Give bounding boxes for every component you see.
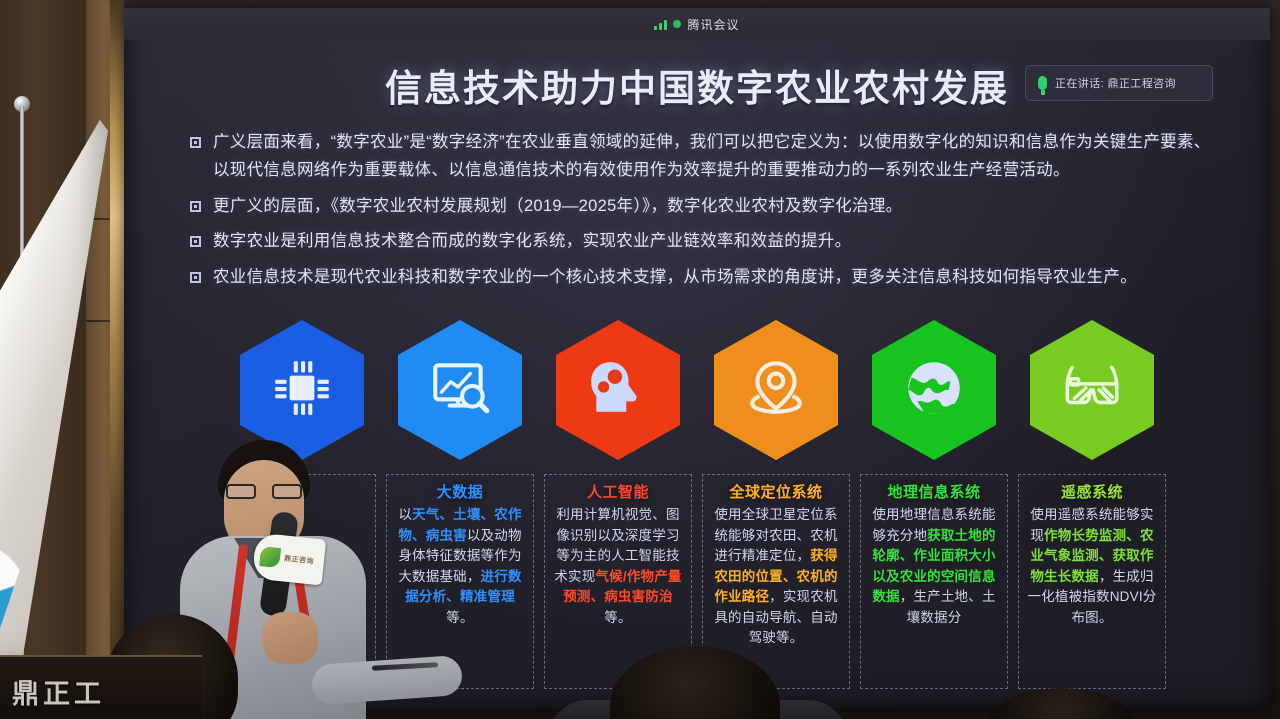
globe-icon: [901, 355, 967, 426]
chip-icon: [269, 355, 335, 426]
card-title: 地理信息系统: [867, 481, 1001, 502]
ai-head-gears-icon: [585, 355, 651, 426]
green-dot-icon: [673, 20, 681, 28]
smart-glasses-icon: [1059, 355, 1125, 426]
bullet-square-icon: [190, 272, 201, 283]
card-title: 遥感系统: [1025, 481, 1159, 502]
location-pin-icon: [743, 355, 809, 426]
card-body: 以天气、土壤、农作物、病虫害以及动物身体特征数据等作为大数据基础，进行数据分析、…: [393, 505, 527, 628]
bullet-text: 广义层面来看，“数字农业”是“数字经济”在农业垂直领域的延伸，我们可以把它定义为…: [213, 128, 1226, 185]
slide-bullet: 农业信息技术是现代农业科技和数字农业的一个核心技术支撑，从市场需求的角度讲，更多…: [190, 263, 1226, 291]
meeting-app-label: 腾讯会议: [687, 16, 739, 33]
hexagon-ai-head-gears-icon: [556, 320, 680, 460]
card-body: 使用全球卫星定位系统能够对农田、农机进行精准定位，获得农田的位置、农机的作业路径…: [709, 505, 843, 649]
card-body: 使用地理信息系统能够充分地获取土地的轮廓、作业面积大小以及农业的空间信息数据，生…: [867, 505, 1001, 628]
hexagon-chip-icon: [240, 320, 364, 460]
technology-card: 大数据以天气、土壤、农作物、病虫害以及动物身体特征数据等作为大数据基础，进行数据…: [386, 474, 534, 689]
bullet-square-icon: [190, 201, 201, 212]
slide-title: 信息技术助力中国数字农业农村发展: [124, 58, 1270, 112]
bullet-text: 更广义的层面，《数字农业农村发展规划（2019—2025年）》，数字化农业农村及…: [213, 192, 902, 220]
hexagon-globe-icon: [872, 320, 996, 460]
meeting-topbar: 腾讯会议: [124, 8, 1270, 40]
bullet-text: 农业信息技术是现代农业科技和数字农业的一个核心技术支撑，从市场需求的角度讲，更多…: [213, 263, 1137, 291]
card-body: 利用计算机视觉、图像识别以及深度学习等为主的人工智能技术实现气候/作物产量预测、…: [551, 505, 685, 628]
bullet-square-icon: [190, 137, 201, 148]
bullet-square-icon: [190, 236, 201, 247]
card-plain-text: 以: [398, 507, 412, 522]
eyeglasses-icon: [224, 484, 304, 500]
podium-brand-label: 鼎正工: [12, 672, 105, 711]
gold-trim-strip: [110, 0, 124, 719]
bullet-text: 数字农业是利用信息技术整合而成的数字化系统，实现农业产业链效率和效益的提升。: [213, 227, 851, 255]
slide-bullet: 广义层面来看，“数字农业”是“数字经济”在农业垂直领域的延伸，我们可以把它定义为…: [190, 128, 1226, 185]
slide-bullet: 数字农业是利用信息技术整合而成的数字化系统，实现农业产业链效率和效益的提升。: [190, 227, 1226, 255]
technology-card: 地理信息系统使用地理信息系统能够充分地获取土地的轮廓、作业面积大小以及农业的空间…: [860, 474, 1008, 689]
card-plain-text: 等。: [604, 610, 631, 625]
hexagon-location-pin-icon: [714, 320, 838, 460]
hexagon-monitor-chart-search-icon: [398, 320, 522, 460]
hexagon-smart-glasses-icon: [1030, 320, 1154, 460]
card-title: 人工智能: [551, 481, 685, 502]
slide-bullet-list: 广义层面来看，“数字农业”是“数字经济”在农业垂直领域的延伸，我们可以把它定义为…: [190, 128, 1226, 298]
card-title: 大数据: [393, 481, 527, 502]
card-plain-text: ，生产土地、土壤数据分: [900, 589, 996, 625]
monitor-chart-search-icon: [427, 355, 493, 426]
screenshot-root: 鼎正咨询股份有限公司 Ding Zheng Consulting Co.,Ltd…: [0, 0, 1280, 719]
technology-card: 遥感系统使用遥感系统能够实现作物长势监测、农业气象监测、获取作物生长数据，生成归…: [1018, 474, 1166, 689]
microphone-brand-label: 鼎正咨询: [284, 555, 315, 565]
slide-bullet: 更广义的层面，《数字农业农村发展规划（2019—2025年）》，数字化农业农村及…: [190, 192, 1226, 220]
card-body: 使用遥感系统能够实现作物长势监测、农业气象监测、获取作物生长数据，生成归一化植被…: [1025, 505, 1159, 628]
leaf-logo-icon: [259, 546, 281, 568]
presenter-hand: [262, 612, 318, 664]
hexagon-icon-row: [124, 320, 1270, 460]
signal-bars-icon: [654, 19, 667, 30]
card-title: 全球定位系统: [709, 481, 843, 502]
card-plain-text: 等。: [446, 610, 473, 625]
